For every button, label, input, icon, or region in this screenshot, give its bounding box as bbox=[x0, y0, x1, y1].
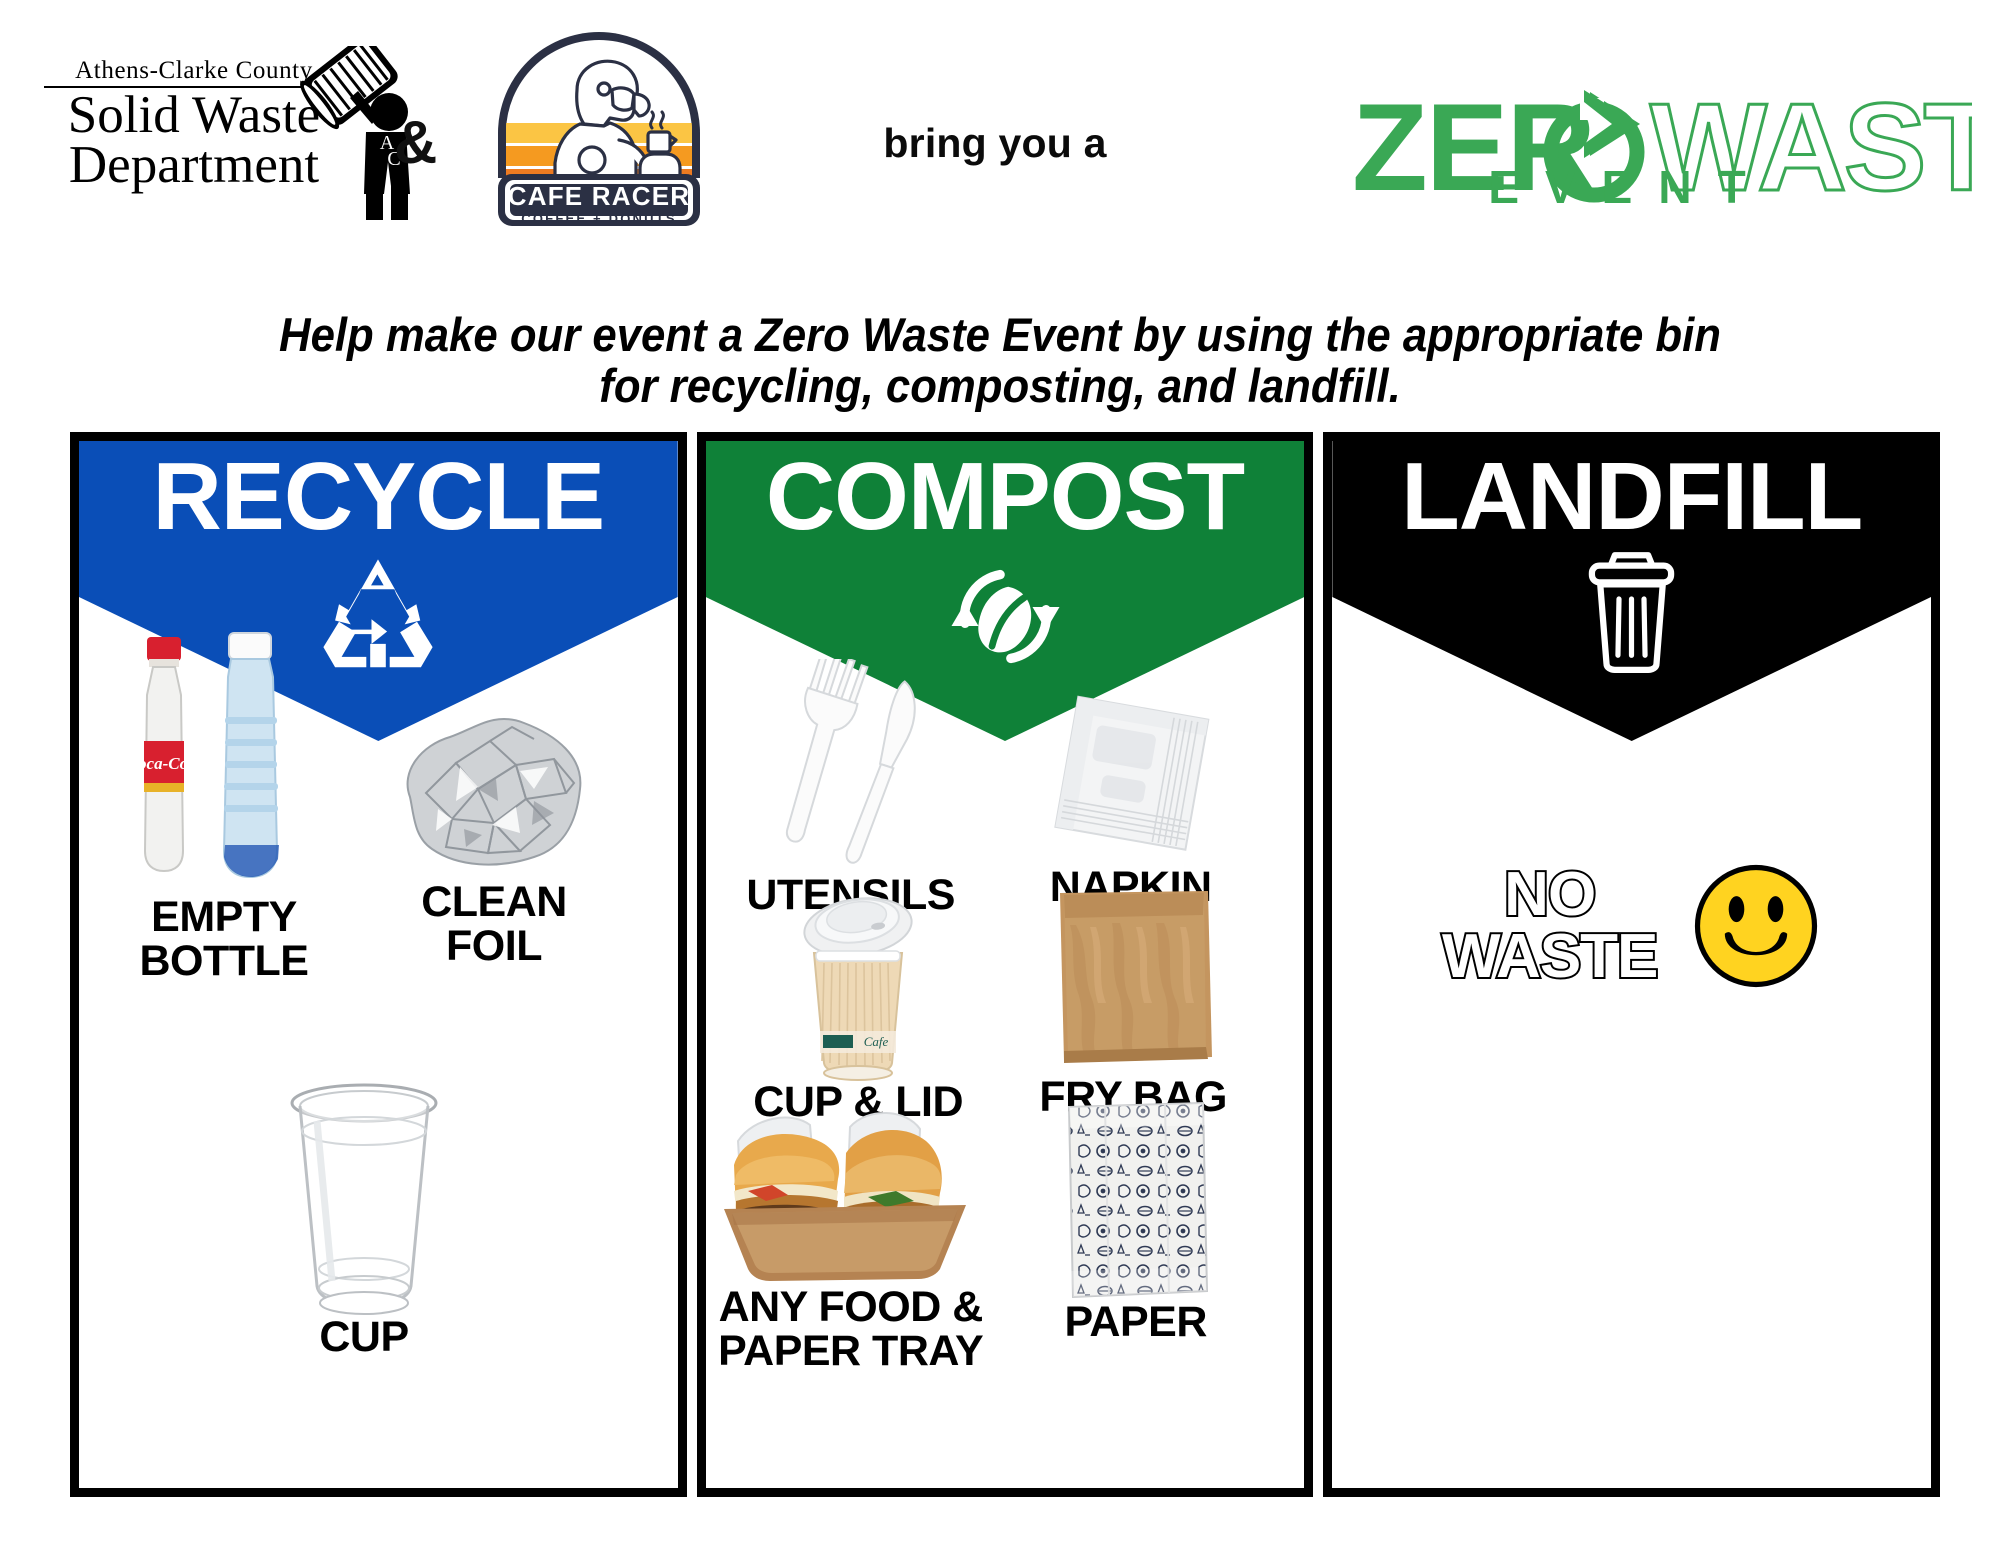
cafe-racer-name: CAFE RACER bbox=[508, 181, 690, 211]
poster-subtitle: Help make our event a Zero Waste Event b… bbox=[126, 310, 1874, 412]
zero-waste-event-poster: Athens-Clarke County Solid Waste Departm… bbox=[0, 0, 2000, 1545]
compost-item-label-line1: ANY FOOD & bbox=[706, 1286, 996, 1330]
sandwiches-in-paper-tray-icon bbox=[718, 1101, 983, 1286]
recycle-symbol-icon bbox=[313, 549, 443, 679]
recycle-items: Coca-Cola bbox=[79, 631, 678, 1488]
svg-text:Coca-Cola: Coca-Cola bbox=[126, 754, 201, 773]
bin-column-compost: COMPOST bbox=[697, 432, 1314, 1497]
cafe-racer-logo: CAFE RACER COFFEE + DONUTS bbox=[484, 28, 714, 233]
landfill-title: LANDFILL bbox=[1332, 441, 1931, 545]
recycle-item-clean-foil: CLEAN FOIL bbox=[369, 701, 619, 969]
fork-and-knife-icon bbox=[736, 659, 966, 874]
compost-item-food-and-tray: ANY FOOD & PAPER TRAY bbox=[706, 1101, 996, 1374]
clear-plastic-cup-icon bbox=[277, 1081, 452, 1316]
recycle-item-label-line2: FOIL bbox=[369, 925, 619, 969]
coffee-cup-with-lid-icon: Cafe bbox=[778, 881, 938, 1081]
recycle-title: RECYCLE bbox=[79, 441, 678, 545]
compost-item-cup-and-lid: Cafe CUP & LID bbox=[726, 881, 991, 1125]
landfill-item-no-waste: NO WASTE bbox=[1332, 861, 1931, 991]
compost-title: COMPOST bbox=[706, 441, 1305, 545]
compost-items: UTENSILS bbox=[706, 631, 1305, 1488]
compost-item-label-line1: PAPER bbox=[996, 1301, 1276, 1345]
ampersand-separator: & bbox=[394, 108, 437, 177]
cafe-racer-tagline: COFFEE + DONUTS bbox=[521, 211, 676, 226]
bin-columns: RECYCLE bbox=[70, 432, 1940, 1497]
compost-icon-wrap bbox=[706, 549, 1305, 684]
compost-item-napkin: NAPKIN bbox=[991, 691, 1271, 910]
landfill-item-label-line1: NO bbox=[1442, 864, 1657, 926]
bin-column-recycle: RECYCLE bbox=[70, 432, 687, 1497]
svg-text:Cafe: Cafe bbox=[864, 1034, 889, 1049]
landfill-icon-wrap bbox=[1332, 549, 1931, 674]
recycle-item-label-line1: CUP bbox=[219, 1316, 509, 1360]
paper-napkin-icon bbox=[1043, 691, 1218, 866]
poster-header: Athens-Clarke County Solid Waste Departm… bbox=[0, 0, 2000, 300]
compost-item-paper: PAPER bbox=[996, 1101, 1276, 1345]
compost-item-utensils: UTENSILS bbox=[716, 659, 986, 918]
landfill-item-label-line2: WASTE bbox=[1442, 926, 1657, 988]
compost-item-label-line2: PAPER TRAY bbox=[706, 1330, 996, 1374]
recycle-item-empty-bottle: Coca-Cola bbox=[109, 631, 339, 984]
subtitle-line-1: Help make our event a Zero Waste Event b… bbox=[126, 310, 1874, 361]
trash-can-icon bbox=[1579, 549, 1684, 674]
compost-item-fry-bag: FRY BAG bbox=[996, 881, 1271, 1120]
smiley-face-icon bbox=[1691, 861, 1821, 991]
kraft-paper-bag-icon bbox=[1046, 881, 1221, 1076]
recycle-item-label-line2: BOTTLE bbox=[109, 940, 339, 984]
recycle-item-label-line1: CLEAN bbox=[369, 881, 619, 925]
event-word: EVENT bbox=[1380, 160, 1880, 214]
bring-you-a-text: bring you a bbox=[800, 120, 1190, 167]
landfill-items: NO WASTE bbox=[1332, 631, 1931, 1488]
subtitle-line-2: for recycling, composting, and landfill. bbox=[126, 361, 1874, 412]
recycle-icon-wrap bbox=[79, 549, 678, 679]
recycle-item-cup: CUP bbox=[219, 1081, 509, 1360]
acc-solid-waste-logo: Athens-Clarke County Solid Waste Departm… bbox=[44, 58, 444, 218]
compost-leaf-arrows-icon bbox=[938, 549, 1073, 684]
bin-column-landfill: LANDFILL bbox=[1323, 432, 1940, 1497]
crumpled-aluminum-foil-icon bbox=[394, 701, 594, 881]
recycle-item-label-line1: EMPTY bbox=[109, 896, 339, 940]
printed-wax-paper-icon bbox=[1053, 1101, 1218, 1301]
